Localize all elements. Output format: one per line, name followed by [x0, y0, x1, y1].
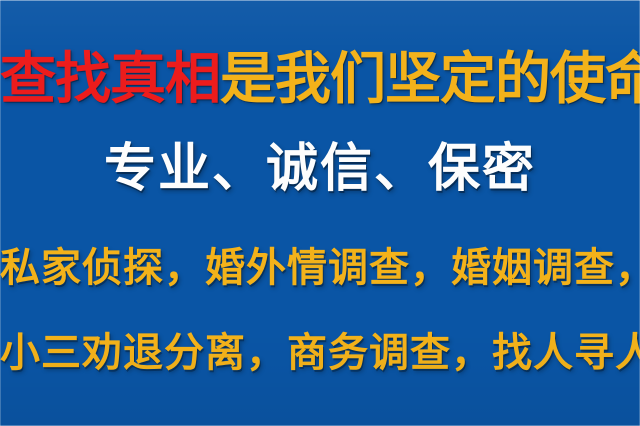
advertisement-banner: 查找真相是我们坚定的使命 专业、诚信、保密 私家侦探，婚外情调查，婚姻调查， 小…	[0, 0, 640, 426]
services-line-2: 小三劝退分离，商务调查，找人寻人	[0, 333, 640, 389]
banner-text-block: 查找真相是我们坚定的使命 专业、诚信、保密 私家侦探，婚外情调查，婚姻调查， 小…	[0, 0, 640, 426]
headline-rest-text: 是我们坚定的使命	[220, 52, 640, 108]
motto-text: 专业、诚信、保密	[0, 143, 640, 205]
services-line-1: 私家侦探，婚外情调查，婚姻调查，	[0, 248, 640, 304]
headline: 查找真相是我们坚定的使命	[0, 52, 640, 114]
headline-emphasis-text: 查找真相	[0, 52, 220, 108]
